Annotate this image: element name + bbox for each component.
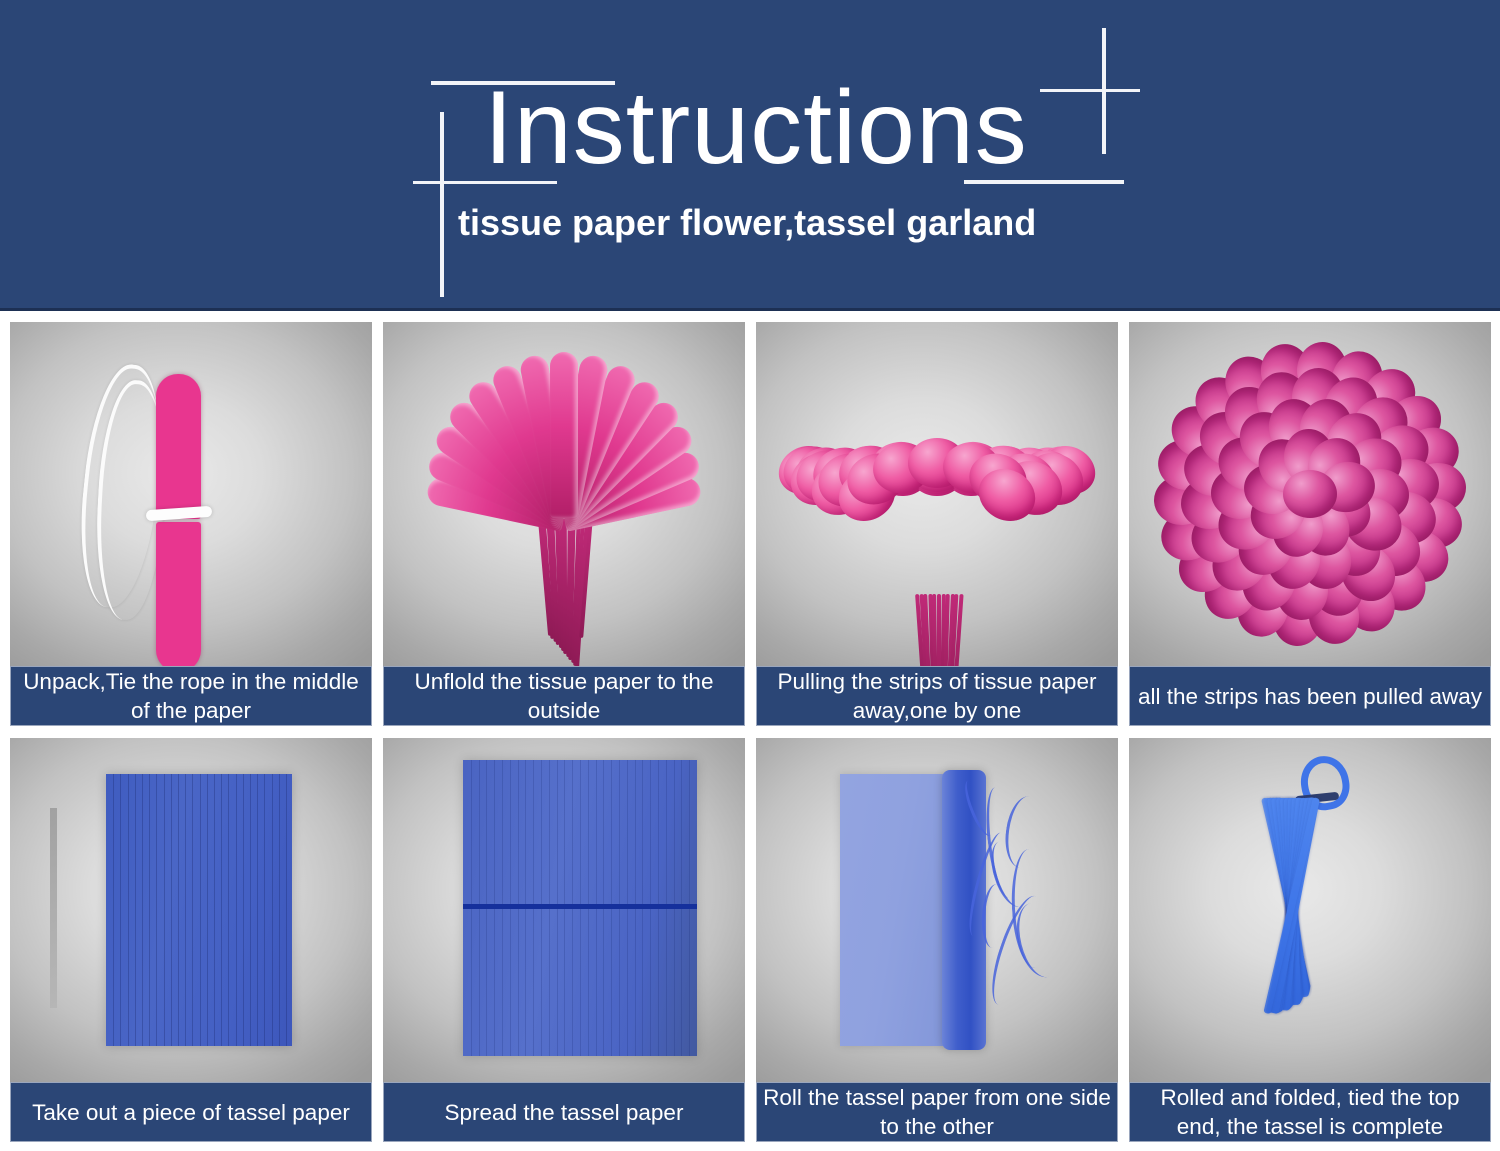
step-caption-5: Take out a piece of tassel paper [10, 1082, 372, 1142]
tissue-strip-upper [156, 374, 201, 519]
decorative-line-left-vertical [440, 112, 444, 297]
step-caption-8: Rolled and folded, tied the top end, the… [1129, 1082, 1491, 1142]
step-caption-text-6: Spread the tassel paper [445, 1098, 684, 1127]
step-caption-4: all the strips has been pulled away [1129, 666, 1491, 726]
step-photo-7 [756, 738, 1118, 1082]
finished-tassel-illustration [1129, 738, 1491, 1082]
unfolded-fan-illustration [383, 322, 745, 666]
step-caption-text-8: Rolled and folded, tied the top end, the… [1136, 1083, 1484, 1141]
page-subtitle: tissue paper flower,tassel garland [458, 203, 1036, 243]
step-photo-3 [756, 322, 1118, 666]
step-photo-4 [1129, 322, 1491, 666]
step-card-5: Take out a piece of tassel paper [10, 738, 372, 1142]
step-card-7: Roll the tassel paper from one side to t… [756, 738, 1118, 1142]
step-caption-3: Pulling the strips of tissue paper away,… [756, 666, 1118, 726]
tassel-fringe-strands [1247, 798, 1397, 1048]
decorative-line-right-horizontal [1040, 89, 1140, 92]
hanging-strips [543, 518, 587, 666]
step-photo-2 [383, 322, 745, 666]
finished-pompom-illustration [1129, 322, 1491, 666]
step-caption-text-3: Pulling the strips of tissue paper away,… [763, 667, 1111, 725]
flat-tassel-sheet-illustration [10, 738, 372, 1082]
tassel-paper-sheet [106, 774, 292, 1046]
half-opened-pompom-illustration [756, 322, 1118, 666]
step-photo-6 [383, 738, 745, 1082]
step-caption-text-4: all the strips has been pulled away [1138, 682, 1482, 711]
step-card-8: Rolled and folded, tied the top end, the… [1129, 738, 1491, 1142]
step-caption-text-5: Take out a piece of tassel paper [32, 1098, 350, 1127]
step-caption-text-2: Unflold the tissue paper to the outside [390, 667, 738, 725]
step-card-3: Pulling the strips of tissue paper away,… [756, 322, 1118, 726]
sheet-slit [50, 808, 57, 1008]
page-title: Instructions [484, 76, 1028, 180]
step-photo-1 [10, 322, 372, 666]
remaining-strips [919, 594, 959, 666]
step-card-2: Unflold the tissue paper to the outside [383, 322, 745, 726]
header-banner: Instructions tissue paper flower,tassel … [0, 0, 1500, 311]
step-caption-2: Unflold the tissue paper to the outside [383, 666, 745, 726]
tissue-strip-lower [156, 522, 201, 666]
step-caption-text-1: Unpack,Tie the rope in the middle of the… [17, 667, 365, 725]
step-caption-6: Spread the tassel paper [383, 1082, 745, 1142]
rolling-tassel-paper-illustration [756, 738, 1118, 1082]
center-crease-line [463, 904, 697, 909]
spread-tassel-sheet-illustration [383, 738, 745, 1082]
step-photo-5 [10, 738, 372, 1082]
step-card-1: Unpack,Tie the rope in the middle of the… [10, 322, 372, 726]
unrolled-paper-section [840, 774, 950, 1046]
packed-tissue-strip-illustration [10, 322, 372, 666]
step-caption-7: Roll the tassel paper from one side to t… [756, 1082, 1118, 1142]
step-caption-text-7: Roll the tassel paper from one side to t… [763, 1083, 1111, 1141]
step-caption-1: Unpack,Tie the rope in the middle of the… [10, 666, 372, 726]
step-card-6: Spread the tassel paper [383, 738, 745, 1142]
header-divider [0, 308, 1500, 311]
step-photo-8 [1129, 738, 1491, 1082]
instruction-step-grid: Unpack,Tie the rope in the middle of the… [10, 322, 1492, 1142]
step-card-4: all the strips has been pulled away [1129, 322, 1491, 726]
